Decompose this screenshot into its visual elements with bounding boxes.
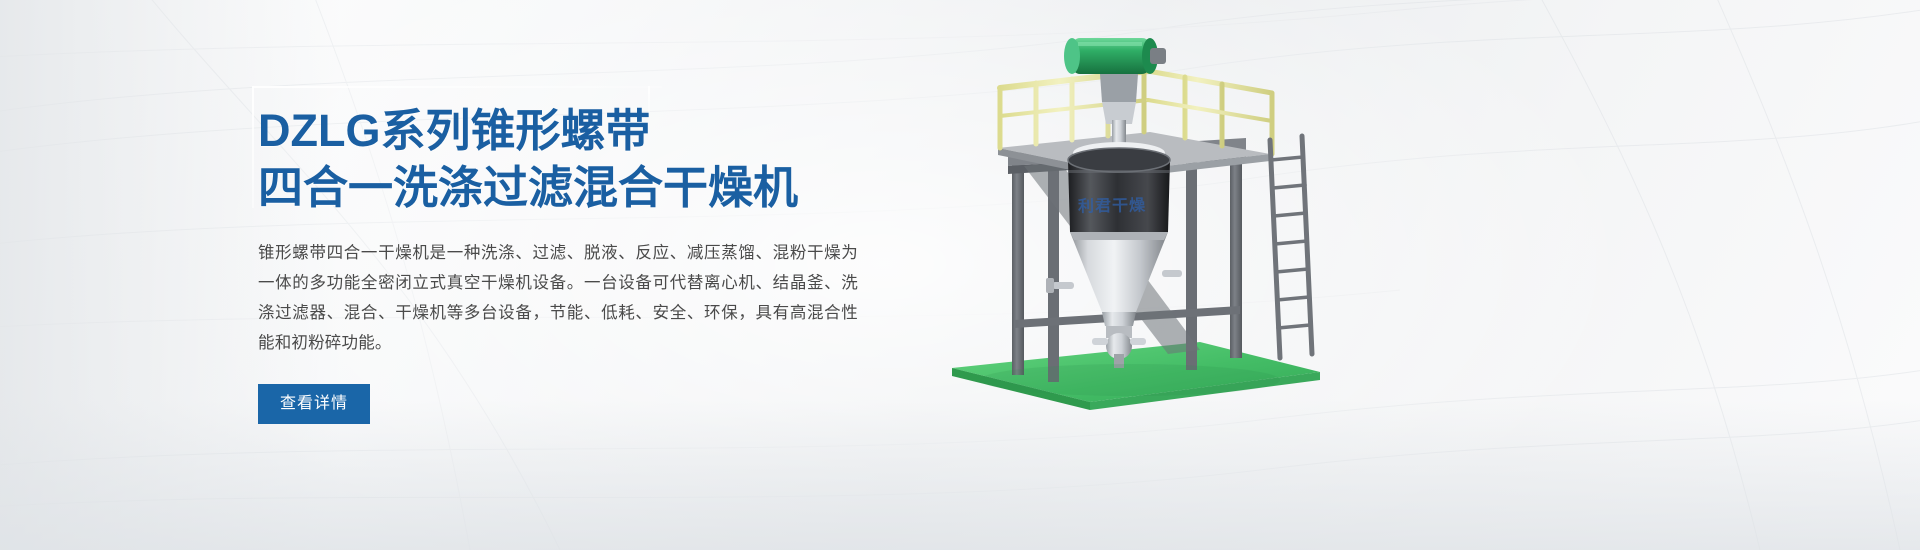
headline-line-1: DZLG系列锥形螺带 [258, 105, 650, 156]
access-ladder [1270, 136, 1312, 358]
product-description: 锥形螺带四合一干燥机是一种洗涤、过滤、脱液、反应、减压蒸馏、混粉干燥为一体的多功… [258, 238, 858, 358]
page-title: DZLG系列锥形螺带 四合一洗涤过滤混合干燥机 [258, 102, 898, 216]
vessel-body [1068, 148, 1170, 232]
hero-banner: DZLG系列锥形螺带 四合一洗涤过滤混合干燥机 锥形螺带四合一干燥机是一种洗涤、… [0, 0, 1920, 550]
headline-line-2: 四合一洗涤过滤混合干燥机 [258, 159, 898, 216]
view-details-button[interactable]: 查看详情 [258, 384, 370, 424]
product-image [900, 20, 1420, 440]
image-watermark: 利君干燥 [1078, 191, 1146, 216]
decorative-bracket-right [648, 86, 650, 128]
hero-text-column: DZLG系列锥形螺带 四合一洗涤过滤混合干燥机 锥形螺带四合一干燥机是一种洗涤、… [258, 88, 898, 428]
